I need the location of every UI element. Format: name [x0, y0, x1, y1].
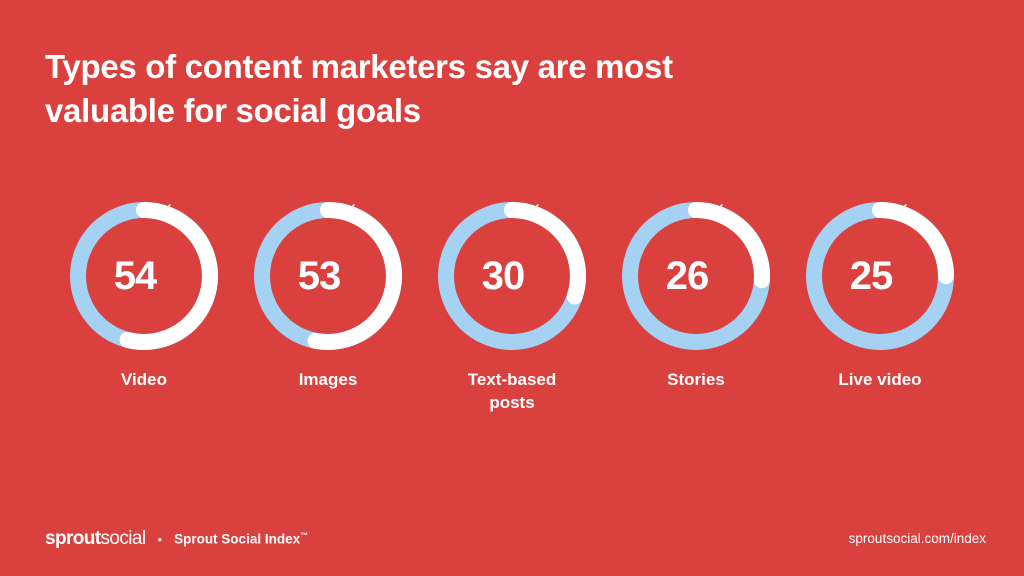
donut-chart-stories: 26 % — [620, 200, 772, 352]
donut-center-live-video: 25 % — [804, 200, 956, 352]
donut-label-stories: Stories — [667, 368, 725, 391]
donut-label-video: Video — [121, 368, 167, 391]
footer: sproutsocial • Sprout Social Index™ spro… — [0, 516, 1024, 576]
donut-chart-images: 53 % — [252, 200, 404, 352]
footer-url: sproutsocial.com/index — [849, 531, 986, 546]
donut-center-text-based-posts: 30 % — [436, 200, 588, 352]
donut-value-text-based-posts: 30 — [482, 256, 525, 296]
sprout-social-logo: sproutsocial — [45, 528, 146, 550]
trademark-icon: ™ — [300, 531, 308, 540]
donut-chart-text-based-posts: 30 % — [436, 200, 588, 352]
donut-label-text-based-posts-line2: posts — [489, 393, 534, 412]
donut-label-images-line1: Images — [299, 370, 358, 389]
donut-value-video: 54 — [114, 256, 157, 296]
percent-sign-live-video: % — [893, 203, 910, 222]
percent-sign-video: % — [157, 203, 174, 222]
percent-sign-stories: % — [709, 203, 726, 222]
donut-chart-live-video: 25 % — [804, 200, 956, 352]
donut-label-stories-line1: Stories — [667, 370, 725, 389]
donut-value-images: 53 — [298, 256, 341, 296]
logo-word-social: social — [101, 528, 146, 549]
percent-sign-images: % — [341, 203, 358, 222]
title-line-1: Types of content marketers say are most — [45, 45, 785, 89]
donut-label-live-video-line1: Live video — [838, 370, 921, 389]
donut-chart-video: 54 % — [68, 200, 220, 352]
footer-separator-dot: • — [158, 533, 163, 546]
logo-word-sprout: sprout — [45, 528, 101, 549]
donut-label-text-based-posts-line1: Text-based — [468, 370, 557, 389]
donut-chart-row: 54 % Video 53 % Images — [0, 200, 1024, 414]
footer-index-text: Sprout Social Index — [174, 532, 300, 547]
donut-item-images: 53 % Images — [236, 200, 420, 391]
slide-canvas: Types of content marketers say are most … — [0, 0, 1024, 576]
donut-center-images: 53 % — [252, 200, 404, 352]
donut-center-stories: 26 % — [620, 200, 772, 352]
footer-index-label: Sprout Social Index™ — [174, 531, 308, 547]
footer-branding: sproutsocial • Sprout Social Index™ — [45, 528, 308, 550]
page-title: Types of content marketers say are most … — [45, 45, 785, 133]
donut-label-live-video: Live video — [838, 368, 921, 391]
donut-value-stories: 26 — [666, 256, 709, 296]
donut-item-text-based-posts: 30 % Text-based posts — [420, 200, 604, 414]
donut-item-stories: 26 % Stories — [604, 200, 788, 391]
donut-center-video: 54 % — [68, 200, 220, 352]
percent-sign-text-based-posts: % — [525, 203, 542, 222]
donut-item-live-video: 25 % Live video — [788, 200, 972, 391]
donut-label-video-line1: Video — [121, 370, 167, 389]
donut-value-live-video: 25 — [850, 256, 893, 296]
donut-label-text-based-posts: Text-based posts — [468, 368, 557, 414]
donut-label-images: Images — [299, 368, 358, 391]
donut-item-video: 54 % Video — [52, 200, 236, 391]
title-line-2: valuable for social goals — [45, 89, 785, 133]
